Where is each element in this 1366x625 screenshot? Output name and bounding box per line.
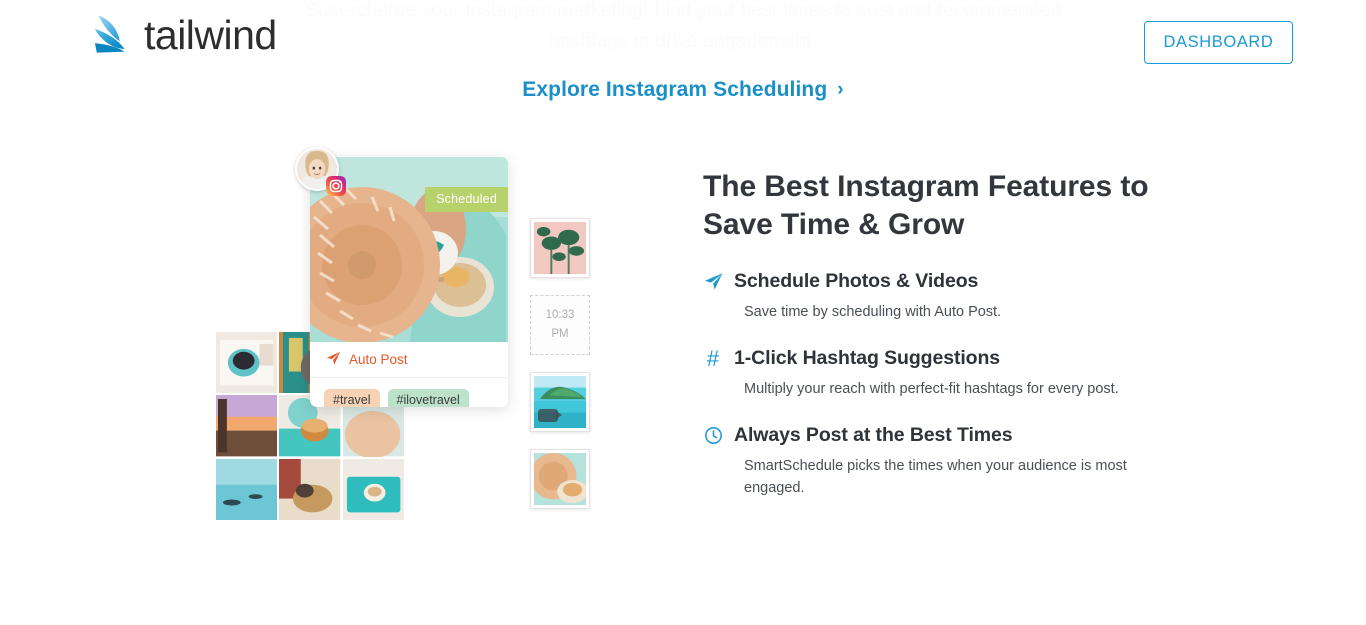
scheduled-queue-thumbnails: 10:33 PM [530, 218, 592, 526]
feature-title: Schedule Photos & Videos [734, 270, 978, 293]
feature-description: SmartSchedule picks the times when your … [744, 455, 1144, 499]
grid-photo [216, 332, 277, 393]
feature-item-best-times: Always Post at the Best Times SmartSched… [703, 424, 1163, 499]
tailwind-logo[interactable]: tailwind [93, 12, 277, 59]
feature-item-hashtags: # 1-Click Hashtag Suggestions Multiply y… [703, 347, 1163, 400]
dashboard-button[interactable]: DASHBOARD [1144, 21, 1293, 64]
hashtag-pill[interactable]: #travel [324, 389, 380, 407]
grid-photo [279, 459, 340, 520]
auto-post-row: Auto Post [310, 342, 508, 378]
video-icon [538, 409, 558, 422]
chevron-right-icon: › [837, 79, 843, 101]
grid-photo [343, 459, 404, 520]
status-badge: Scheduled [425, 187, 508, 212]
queue-thumbnail-photo[interactable] [530, 218, 590, 278]
instagram-scheduling-illustration: Scheduled Auto Post #travel #ilovetravel… [180, 130, 630, 550]
queue-empty-slot[interactable]: 10:33 PM [530, 295, 590, 355]
avatar[interactable] [295, 147, 339, 191]
logo-wordmark: tailwind [144, 12, 277, 59]
instagram-icon [326, 176, 346, 196]
clock-icon [703, 426, 723, 446]
auto-post-label: Auto Post [349, 352, 408, 367]
hashtag-pill-list: #travel #ilovetravel #bestintravel #isla… [310, 378, 508, 407]
feature-title: Always Post at the Best Times [734, 424, 1013, 447]
explore-instagram-scheduling-link[interactable]: Explore Instagram Scheduling› [0, 78, 1366, 102]
paper-plane-icon [326, 351, 341, 369]
feature-description: Save time by scheduling with Auto Post. [744, 301, 1144, 323]
paper-plane-icon [703, 272, 723, 292]
page-title: The Best Instagram Features to Save Time… [703, 168, 1163, 244]
features-section: The Best Instagram Features to Save Time… [703, 168, 1163, 523]
feature-title: 1-Click Hashtag Suggestions [734, 347, 1000, 370]
grid-photo [216, 459, 277, 520]
feature-item-schedule: Schedule Photos & Videos Save time by sc… [703, 270, 1163, 323]
hashtag-pill[interactable]: #ilovetravel [388, 389, 469, 407]
queue-thumbnail-photo[interactable] [530, 449, 590, 509]
slot-meridiem: PM [551, 325, 568, 344]
hashtag-icon: # [703, 349, 723, 369]
tailwind-feather-logo-icon [93, 13, 135, 58]
slot-time: 10:33 [546, 306, 575, 325]
grid-photo [216, 395, 277, 456]
explore-link-label: Explore Instagram Scheduling [522, 78, 827, 101]
hero-tagline: Supercharge your Instagram marketing! Fi… [303, 0, 1063, 57]
queue-thumbnail-video[interactable] [530, 372, 590, 432]
page-header: Supercharge your Instagram marketing! Fi… [0, 0, 1366, 85]
feature-description: Multiply your reach with perfect-fit has… [744, 378, 1144, 400]
